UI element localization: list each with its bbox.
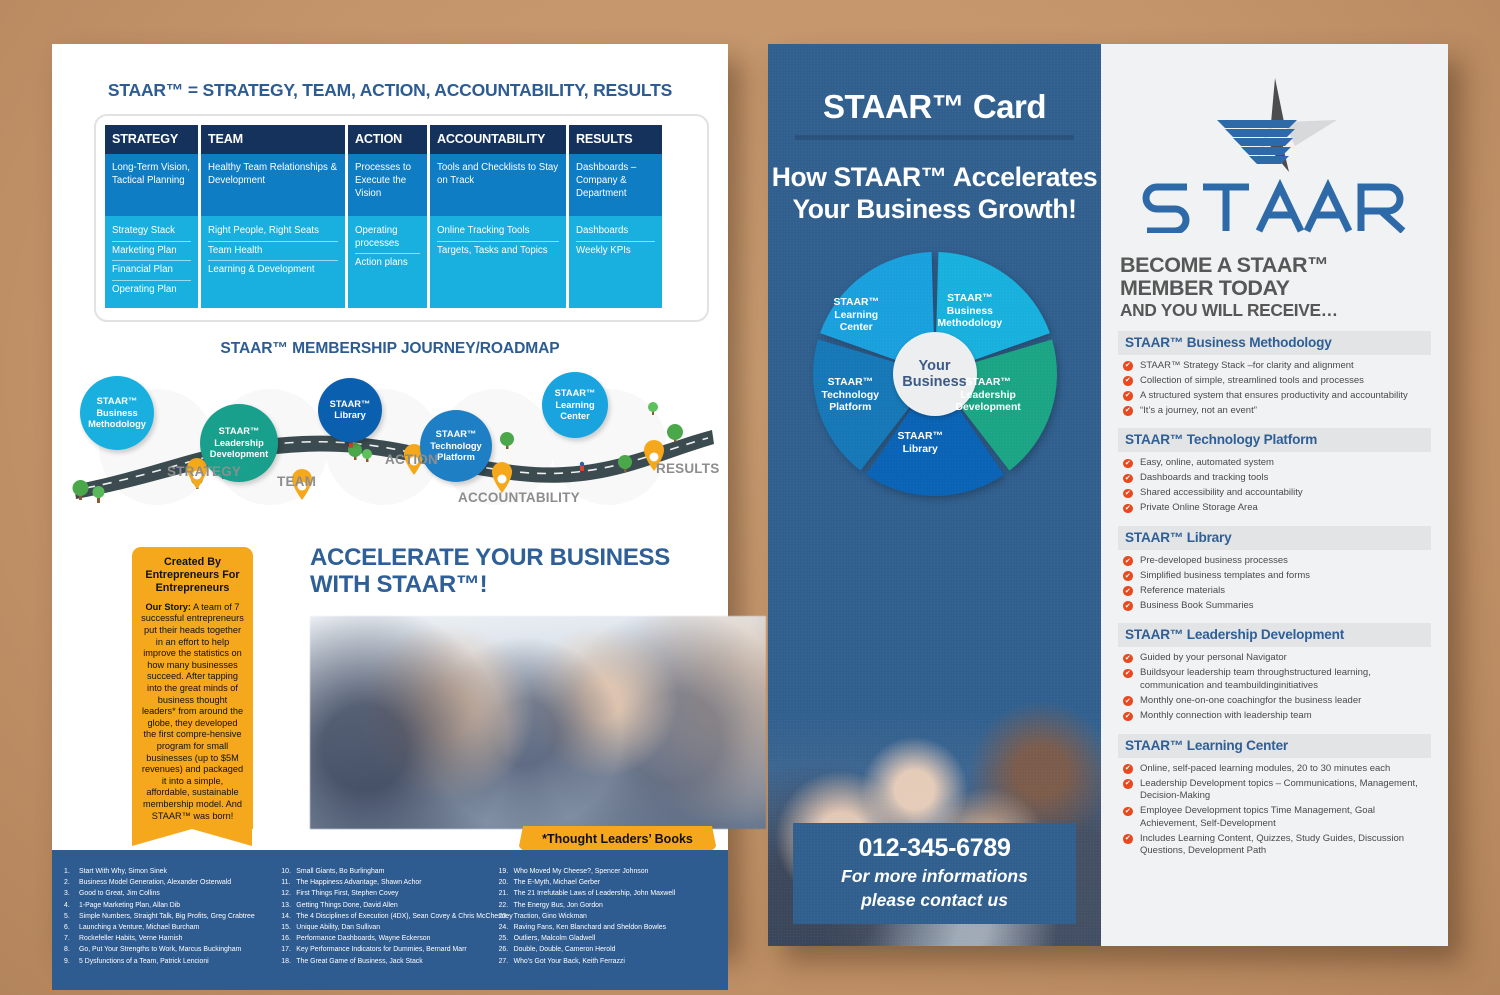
benefit-text: Monthly one-on-one coachingfor the busin… bbox=[1140, 695, 1361, 706]
book-title: Business Model Generation, Alexander Ost… bbox=[79, 879, 231, 886]
benefit-text: STAAR™ Strategy Stack –for clarity and a… bbox=[1140, 360, 1354, 371]
matrix-summary: Processes to Execute the Vision bbox=[348, 154, 427, 216]
benefit-section-4: STAAR™ Learning Center✔Online, self-pace… bbox=[1118, 734, 1431, 858]
book-title: Good to Great, Jim Collins bbox=[79, 890, 160, 897]
benefit-text: Shared accessibility and accountability bbox=[1140, 487, 1303, 498]
book-number: 17. bbox=[281, 944, 296, 955]
book-number: 14. bbox=[281, 911, 296, 922]
matrix-item: Weekly KPIs bbox=[576, 242, 655, 261]
book-number: 9. bbox=[64, 956, 79, 967]
your-business-pie-chart: Your Business STAAR™BusinessMethodologyS… bbox=[810, 249, 1060, 499]
matrix-items: DashboardsWeekly KPIs bbox=[569, 216, 662, 308]
book-number: 13. bbox=[281, 900, 296, 911]
book-list-item: 25.Outliers, Malcolm Gladwell bbox=[499, 933, 710, 944]
benefit-item: ✔Guided by your personal Navigator bbox=[1123, 652, 1431, 665]
check-icon: ✔ bbox=[1123, 586, 1133, 596]
matrix-item: Operating processes bbox=[355, 222, 420, 254]
check-icon: ✔ bbox=[1123, 807, 1133, 817]
pie-label-0: STAAR™BusinessMethodology bbox=[938, 293, 1003, 331]
book-number: 2. bbox=[64, 877, 79, 888]
book-title: 1-Page Marketing Plan, Allan Dib bbox=[79, 902, 180, 909]
benefit-list: ✔Guided by your personal Navigator✔Build… bbox=[1123, 652, 1431, 722]
check-icon: ✔ bbox=[1123, 474, 1133, 484]
benefit-text: Collection of simple, streamlined tools … bbox=[1140, 375, 1364, 386]
book-title: Traction, Gino Wickman bbox=[514, 913, 587, 920]
books-column-1: 1.Start With Why, Simon Sinek2.Business … bbox=[64, 866, 281, 990]
benefit-item: ✔Buildsyour leadership team throughstruc… bbox=[1123, 667, 1431, 692]
accelerate-heading-line2: WITH STAAR™! bbox=[310, 571, 487, 598]
benefit-item: ✔Monthly one-on-one coachingfor the busi… bbox=[1123, 695, 1431, 708]
benefit-item: ✔“It’s a journey, not an event” bbox=[1123, 405, 1431, 418]
staar-wordmark bbox=[1141, 175, 1409, 233]
matrix-column-results: RESULTSDashboards – Company & Department… bbox=[569, 125, 662, 308]
check-icon: ✔ bbox=[1123, 779, 1133, 789]
benefit-item: ✔Collection of simple, streamlined tools… bbox=[1123, 375, 1431, 388]
book-title: Go, Put Your Strengths to Work, Marcus B… bbox=[79, 946, 241, 953]
card-title: STAAR™ Card bbox=[768, 88, 1101, 126]
our-story-label: Our Story: bbox=[146, 602, 191, 612]
book-title: Who Moved My Cheese?, Spencer Johnson bbox=[514, 868, 649, 875]
benefit-text: Monthly connection with leadership team bbox=[1140, 710, 1312, 721]
benefit-section-title: STAAR™ Technology Platform bbox=[1118, 428, 1431, 452]
staar-matrix-table: STRATEGYLong-Term Vision, Tactical Plann… bbox=[94, 114, 709, 322]
callout-tail bbox=[132, 829, 252, 846]
books-list-strip: 1.Start With Why, Simon Sinek2.Business … bbox=[52, 850, 728, 990]
benefit-text: Dashboards and tracking tools bbox=[1140, 472, 1268, 483]
roadmap-bubble-0: STAAR™ Business Methodology bbox=[80, 376, 154, 450]
book-number: 3. bbox=[64, 888, 79, 899]
benefit-list: ✔Easy, online, automated system✔Dashboar… bbox=[1123, 457, 1431, 515]
benefit-list: ✔STAAR™ Strategy Stack –for clarity and … bbox=[1123, 360, 1431, 418]
matrix-item: Action plans bbox=[355, 254, 420, 273]
benefit-text: “It’s a journey, not an event” bbox=[1140, 405, 1257, 416]
book-list-item: 4.1-Page Marketing Plan, Allan Dib bbox=[64, 900, 275, 911]
book-list-item: 19.Who Moved My Cheese?, Spencer Johnson bbox=[499, 866, 710, 877]
business-meeting-photo bbox=[310, 616, 766, 829]
matrix-header: ACCOUNTABILITY bbox=[430, 125, 566, 154]
check-icon: ✔ bbox=[1123, 669, 1133, 679]
book-title: Launching a Venture, Michael Burcham bbox=[79, 924, 199, 931]
book-title: Start With Why, Simon Sinek bbox=[79, 868, 167, 875]
book-number: 4. bbox=[64, 900, 79, 911]
roadmap-stage-results: RESULTS bbox=[656, 461, 719, 476]
book-list-item: 27.Who’s Got Your Back, Keith Ferrazzi bbox=[499, 956, 710, 967]
matrix-column-action: ACTIONProcesses to Execute the VisionOpe… bbox=[348, 125, 427, 308]
right-brochure-panel: STAAR™ Card How STAAR™ Accelerates Your … bbox=[768, 44, 1448, 946]
book-list-item: 13.Getting Things Done, David Allen bbox=[281, 900, 492, 911]
our-story-body: A team of 7 successful entrepreneurs put… bbox=[141, 602, 244, 821]
pie-center-line1: Your bbox=[919, 358, 951, 375]
book-list-item: 8.Go, Put Your Strengths to Work, Marcus… bbox=[64, 944, 275, 955]
our-story-text: Our Story: A team of 7 successful entrep… bbox=[140, 602, 245, 822]
book-number: 23. bbox=[499, 911, 514, 922]
book-list-item: 3.Good to Great, Jim Collins bbox=[64, 888, 275, 899]
book-title: The E-Myth, Michael Gerber bbox=[514, 879, 601, 886]
matrix-summary: Healthy Team Relationships & Development bbox=[201, 154, 345, 216]
matrix-items: Online Tracking ToolsTargets, Tasks and … bbox=[430, 216, 566, 308]
pie-label-3: STAAR™TechnologyPlatform bbox=[822, 377, 880, 415]
benefit-item: ✔Employee Development topics Time Manage… bbox=[1123, 805, 1431, 830]
matrix-item: Learning & Development bbox=[208, 261, 338, 280]
benefit-item: ✔Simplified business templates and forms bbox=[1123, 570, 1431, 583]
benefit-text: Pre-developed business processes bbox=[1140, 555, 1288, 566]
membership-journey-roadmap: STAAR™ Business MethodologySTAAR™ Leader… bbox=[52, 362, 728, 512]
benefit-item: ✔Monthly connection with leadership team bbox=[1123, 710, 1431, 723]
phone-number[interactable]: 012-345-6789 bbox=[799, 834, 1070, 863]
benefit-section-title: STAAR™ Library bbox=[1118, 526, 1431, 550]
book-number: 19. bbox=[499, 866, 514, 877]
matrix-item: Operating Plan bbox=[112, 281, 191, 300]
book-title: Who’s Got Your Back, Keith Ferrazzi bbox=[514, 958, 625, 965]
benefit-list: ✔Pre-developed business processes✔Simpli… bbox=[1123, 555, 1431, 613]
book-title: The Energy Bus, Jon Gordon bbox=[514, 902, 603, 909]
title-divider bbox=[795, 135, 1074, 140]
book-title: Simple Numbers, Straight Talk, Big Profi… bbox=[79, 913, 255, 920]
book-number: 16. bbox=[281, 933, 296, 944]
page-title: STAAR™ = STRATEGY, TEAM, ACTION, ACCOUNT… bbox=[52, 80, 728, 101]
book-number: 21. bbox=[499, 888, 514, 899]
benefit-section-0: STAAR™ Business Methodology✔STAAR™ Strat… bbox=[1118, 331, 1431, 418]
book-title: The Great Game of Business, Jack Stack bbox=[296, 958, 422, 965]
check-icon: ✔ bbox=[1123, 571, 1133, 581]
roadmap-stage-team: TEAM bbox=[277, 474, 316, 489]
book-list-item: 6.Launching a Venture, Michael Burcham bbox=[64, 922, 275, 933]
book-number: 26. bbox=[499, 944, 514, 955]
book-list-item: 14.The 4 Disciplines of Execution (4DX),… bbox=[281, 911, 492, 922]
benefit-item: ✔Reference materials bbox=[1123, 585, 1431, 598]
book-list-item: 10.Small Giants, Bo Burlingham bbox=[281, 866, 492, 877]
benefit-text: Employee Development topics Time Managem… bbox=[1140, 805, 1375, 829]
book-title: Rockefeller Habits, Verne Harnish bbox=[79, 935, 182, 942]
matrix-item: Strategy Stack bbox=[112, 222, 191, 242]
matrix-columns: STRATEGYLong-Term Vision, Tactical Plann… bbox=[105, 125, 698, 308]
book-number: 5. bbox=[64, 911, 79, 922]
right-panel-blue-column: STAAR™ Card How STAAR™ Accelerates Your … bbox=[768, 44, 1101, 946]
contact-line2: please contact us bbox=[799, 890, 1070, 910]
check-icon: ✔ bbox=[1123, 556, 1133, 566]
roadmap-bubble-4: STAAR™ Learning Center bbox=[542, 372, 608, 438]
check-icon: ✔ bbox=[1123, 489, 1133, 499]
benefit-item: ✔Dashboards and tracking tools bbox=[1123, 472, 1431, 485]
become-line3: AND YOU WILL RECEIVE… bbox=[1120, 301, 1429, 320]
check-icon: ✔ bbox=[1123, 696, 1133, 706]
right-panel-light-column: BECOME A STAAR™ MEMBER TODAY AND YOU WIL… bbox=[1101, 44, 1448, 946]
book-title: The Happiness Advantage, Shawn Achor bbox=[296, 879, 421, 886]
roadmap-stage-accountability: ACCOUNTABILITY bbox=[458, 490, 580, 505]
matrix-item: Financial Plan bbox=[112, 261, 191, 281]
book-title: 5 Dysfunctions of a Team, Patrick Lencio… bbox=[79, 958, 209, 965]
benefit-text: Easy, online, automated system bbox=[1140, 457, 1274, 468]
matrix-header: RESULTS bbox=[569, 125, 662, 154]
become-line2: MEMBER TODAY bbox=[1120, 277, 1429, 300]
book-list-item: 15.Unique Ability, Dan Sullivan bbox=[281, 922, 492, 933]
book-title: Getting Things Done, David Allen bbox=[296, 902, 397, 909]
check-icon: ✔ bbox=[1123, 654, 1133, 664]
roadmap-bubble-2: STAAR™ Library bbox=[318, 378, 382, 442]
benefit-text: A structured system that ensures product… bbox=[1140, 390, 1408, 401]
benefit-text: Reference materials bbox=[1140, 585, 1225, 596]
accelerate-heading-line1: ACCELERATE YOUR BUSINESS bbox=[310, 544, 670, 571]
book-list-item: 18.The Great Game of Business, Jack Stac… bbox=[281, 956, 492, 967]
contact-line1: For more informations bbox=[799, 866, 1070, 886]
contact-block: 012-345-6789 For more informations pleas… bbox=[793, 823, 1076, 924]
benefit-text: Online, self-paced learning modules, 20 … bbox=[1140, 763, 1390, 774]
check-icon: ✔ bbox=[1123, 376, 1133, 386]
benefit-list: ✔Online, self-paced learning modules, 20… bbox=[1123, 763, 1431, 858]
benefit-item: ✔Leadership Development topics – Communi… bbox=[1123, 778, 1431, 803]
book-title: Raving Fans, Ken Blanchard and Sheldon B… bbox=[514, 924, 666, 931]
check-icon: ✔ bbox=[1123, 391, 1133, 401]
matrix-header: STRATEGY bbox=[105, 125, 198, 154]
book-title: Performance Dashboards, Wayne Eckerson bbox=[296, 935, 430, 942]
matrix-header: ACTION bbox=[348, 125, 427, 154]
roadmap-graphic bbox=[52, 362, 728, 512]
book-number: 20. bbox=[499, 877, 514, 888]
book-number: 12. bbox=[281, 888, 296, 899]
book-list-item: 22.The Energy Bus, Jon Gordon bbox=[499, 900, 710, 911]
book-number: 27. bbox=[499, 956, 514, 967]
book-list-item: 16.Performance Dashboards, Wayne Eckerso… bbox=[281, 933, 492, 944]
book-number: 6. bbox=[64, 922, 79, 933]
benefit-item: ✔Business Book Summaries bbox=[1123, 600, 1431, 613]
book-title: The 21 Irrefutable Laws of Leadership, J… bbox=[514, 890, 676, 897]
book-number: 11. bbox=[281, 877, 296, 888]
book-list-item: 20.The E-Myth, Michael Gerber bbox=[499, 877, 710, 888]
check-icon: ✔ bbox=[1123, 406, 1133, 416]
benefit-text: Simplified business templates and forms bbox=[1140, 570, 1310, 581]
book-list-item: 17.Key Performance Indicators for Dummie… bbox=[281, 944, 492, 955]
check-icon: ✔ bbox=[1123, 459, 1133, 469]
matrix-item: Right People, Right Seats bbox=[208, 222, 338, 242]
matrix-header: TEAM bbox=[201, 125, 345, 154]
our-story-callout: Created By Entrepreneurs For Entrepreneu… bbox=[132, 547, 253, 829]
benefit-text: Private Online Storage Area bbox=[1140, 502, 1258, 513]
card-subtitle: How STAAR™ Accelerates Your Business Gro… bbox=[768, 162, 1101, 225]
benefit-section-title: STAAR™ Leadership Development bbox=[1118, 623, 1431, 647]
book-list-item: 5.Simple Numbers, Straight Talk, Big Pro… bbox=[64, 911, 275, 922]
benefit-item: ✔Includes Learning Content, Quizzes, Stu… bbox=[1123, 833, 1431, 858]
accelerate-heading: ACCELERATE YOUR BUSINESS WITH STAAR™! bbox=[310, 544, 670, 598]
become-line1: BECOME A STAAR™ bbox=[1120, 254, 1429, 277]
pie-label-2: STAAR™Library bbox=[898, 431, 943, 456]
benefit-item: ✔Online, self-paced learning modules, 20… bbox=[1123, 763, 1431, 776]
matrix-summary: Tools and Checklists to Stay on Track bbox=[430, 154, 566, 216]
books-column-3: 19.Who Moved My Cheese?, Spencer Johnson… bbox=[499, 866, 716, 990]
benefit-item: ✔Shared accessibility and accountability bbox=[1123, 487, 1431, 500]
matrix-column-accountability: ACCOUNTABILITYTools and Checklists to St… bbox=[430, 125, 566, 308]
book-number: 22. bbox=[499, 900, 514, 911]
check-icon: ✔ bbox=[1123, 712, 1133, 722]
benefit-item: ✔Private Online Storage Area bbox=[1123, 502, 1431, 515]
book-list-item: 12.First Things First, Stephen Covey bbox=[281, 888, 492, 899]
matrix-item: Marketing Plan bbox=[112, 242, 191, 262]
benefit-section-1: STAAR™ Technology Platform✔Easy, online,… bbox=[1118, 428, 1431, 515]
book-list-item: 21.The 21 Irrefutable Laws of Leadership… bbox=[499, 888, 710, 899]
book-title: First Things First, Stephen Covey bbox=[296, 890, 398, 897]
check-icon: ✔ bbox=[1123, 834, 1133, 844]
book-list-item: 24.Raving Fans, Ken Blanchard and Sheldo… bbox=[499, 922, 710, 933]
book-list-item: 23.Traction, Gino Wickman bbox=[499, 911, 710, 922]
matrix-items: Operating processesAction plans bbox=[348, 216, 427, 308]
book-number: 8. bbox=[64, 944, 79, 955]
book-list-item: 1.Start With Why, Simon Sinek bbox=[64, 866, 275, 877]
benefit-section-3: STAAR™ Leadership Development✔Guided by … bbox=[1118, 623, 1431, 722]
book-list-item: 9.5 Dysfunctions of a Team, Patrick Lenc… bbox=[64, 956, 275, 967]
benefit-sections: STAAR™ Business Methodology✔STAAR™ Strat… bbox=[1101, 331, 1448, 858]
book-title: Key Performance Indicators for Dummies, … bbox=[296, 946, 466, 953]
check-icon: ✔ bbox=[1123, 504, 1133, 514]
become-member-heading: BECOME A STAAR™ MEMBER TODAY AND YOU WIL… bbox=[1120, 254, 1429, 320]
left-brochure-panel: STAAR™ = STRATEGY, TEAM, ACTION, ACCOUNT… bbox=[52, 44, 728, 946]
benefit-text: Includes Learning Content, Quizzes, Stud… bbox=[1140, 833, 1404, 857]
book-number: 1. bbox=[64, 866, 79, 877]
benefit-section-title: STAAR™ Learning Center bbox=[1118, 734, 1431, 758]
book-list-item: 11.The Happiness Advantage, Shawn Achor bbox=[281, 877, 492, 888]
benefit-text: Buildsyour leadership team throughstruct… bbox=[1140, 667, 1371, 691]
matrix-items: Strategy StackMarketing PlanFinancial Pl… bbox=[105, 216, 198, 308]
roadmap-stage-action: ACTION bbox=[385, 452, 438, 467]
check-icon: ✔ bbox=[1123, 601, 1133, 611]
book-title: Unique Ability, Dan Sullivan bbox=[296, 924, 380, 931]
roadmap-bubble-3: STAAR™ Technology Platform bbox=[420, 410, 492, 482]
book-number: 7. bbox=[64, 933, 79, 944]
matrix-summary: Long-Term Vision, Tactical Planning bbox=[105, 154, 198, 216]
our-story-heading: Created By Entrepreneurs For Entrepreneu… bbox=[140, 556, 245, 595]
matrix-column-strategy: STRATEGYLong-Term Vision, Tactical Plann… bbox=[105, 125, 198, 308]
book-title: Small Giants, Bo Burlingham bbox=[296, 868, 384, 875]
matrix-item: Targets, Tasks and Topics bbox=[437, 242, 559, 261]
check-icon: ✔ bbox=[1123, 764, 1133, 774]
benefit-text: Leadership Development topics – Communic… bbox=[1140, 778, 1418, 802]
matrix-column-team: TEAMHealthy Team Relationships & Develop… bbox=[201, 125, 345, 308]
benefit-section-title: STAAR™ Business Methodology bbox=[1118, 331, 1431, 355]
benefit-item: ✔A structured system that ensures produc… bbox=[1123, 390, 1431, 403]
books-column-2: 10.Small Giants, Bo Burlingham11.The Hap… bbox=[281, 866, 498, 990]
book-number: 25. bbox=[499, 933, 514, 944]
roadmap-title: STAAR™ MEMBERSHIP JOURNEY/ROADMAP bbox=[52, 340, 728, 358]
pie-label-1: STAAR™LeadershipDevelopment bbox=[956, 377, 1021, 415]
benefit-item: ✔STAAR™ Strategy Stack –for clarity and … bbox=[1123, 360, 1431, 373]
roadmap-stage-strategy: STRATEGY bbox=[167, 464, 241, 479]
book-title: The 4 Disciplines of Execution (4DX), Se… bbox=[296, 913, 512, 920]
book-list-item: 26.Double, Double, Cameron Herold bbox=[499, 944, 710, 955]
book-number: 10. bbox=[281, 866, 296, 877]
check-icon: ✔ bbox=[1123, 361, 1133, 371]
star-logo-icon bbox=[1211, 76, 1339, 174]
matrix-item: Team Health bbox=[208, 242, 338, 262]
book-title: Double, Double, Cameron Herold bbox=[514, 946, 616, 953]
benefit-section-2: STAAR™ Library✔Pre-developed business pr… bbox=[1118, 526, 1431, 613]
pie-label-4: STAAR™LearningCenter bbox=[834, 297, 879, 335]
book-number: 18. bbox=[281, 956, 296, 967]
thought-leaders-banner: *Thought Leaders’ Books bbox=[518, 826, 717, 851]
matrix-item: Online Tracking Tools bbox=[437, 222, 559, 242]
benefit-text: Business Book Summaries bbox=[1140, 600, 1254, 611]
benefit-item: ✔Pre-developed business processes bbox=[1123, 555, 1431, 568]
matrix-summary: Dashboards – Company & Department bbox=[569, 154, 662, 216]
benefit-item: ✔Easy, online, automated system bbox=[1123, 457, 1431, 470]
book-title: Outliers, Malcolm Gladwell bbox=[514, 935, 596, 942]
book-list-item: 7.Rockefeller Habits, Verne Harnish bbox=[64, 933, 275, 944]
book-list-item: 2.Business Model Generation, Alexander O… bbox=[64, 877, 275, 888]
matrix-item: Dashboards bbox=[576, 222, 655, 242]
book-number: 24. bbox=[499, 922, 514, 933]
book-number: 15. bbox=[281, 922, 296, 933]
benefit-text: Guided by your personal Navigator bbox=[1140, 652, 1287, 663]
staar-logo bbox=[1101, 44, 1448, 233]
matrix-items: Right People, Right SeatsTeam HealthLear… bbox=[201, 216, 345, 308]
